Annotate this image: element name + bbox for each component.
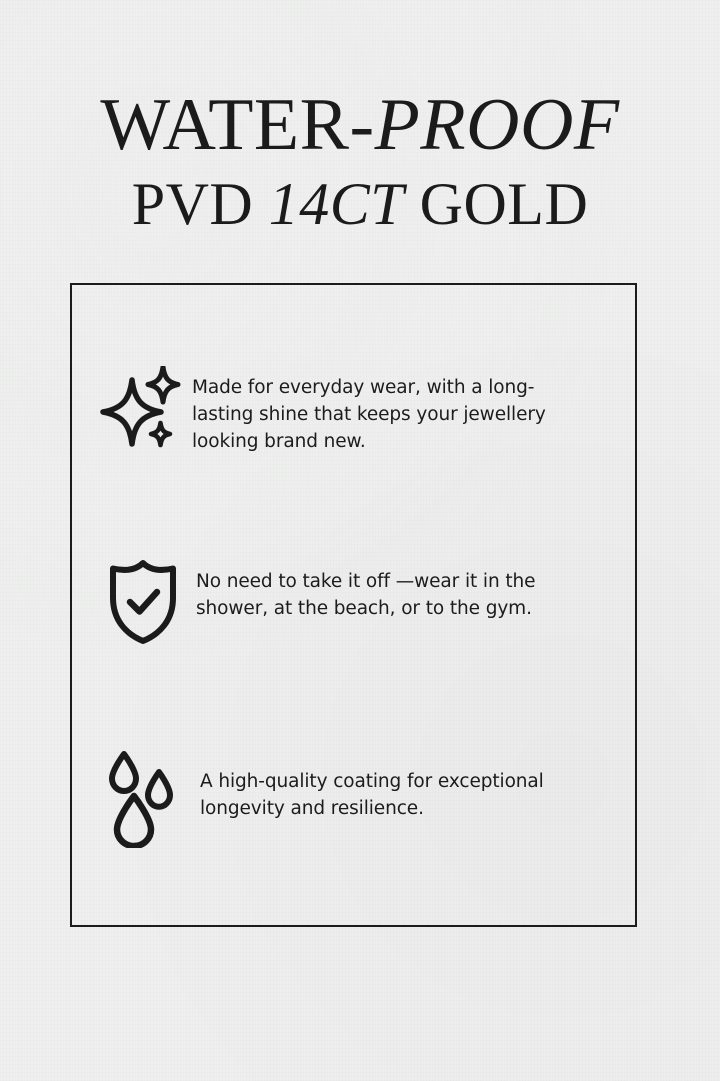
- headline-14ct: 14CT: [269, 171, 404, 237]
- headline-gold: GOLD: [404, 171, 588, 237]
- feature-row-shine: Made for everyday wear, with a long-last…: [70, 362, 637, 455]
- water-droplets-icon: [100, 748, 200, 848]
- feature-text-coating: A high-quality coating for exceptional l…: [200, 748, 590, 822]
- feature-text-waterproof: No need to take it off —wear it in the s…: [196, 556, 586, 622]
- headline-line-1: WATER-PROOF: [0, 88, 720, 162]
- feature-list: Made for everyday wear, with a long-last…: [70, 283, 637, 927]
- feature-row-coating: A high-quality coating for exceptional l…: [70, 748, 637, 848]
- page-title: WATER-PROOF PVD 14CT GOLD: [0, 88, 720, 234]
- feature-text-shine: Made for everyday wear, with a long-last…: [192, 362, 582, 455]
- shield-check-icon: [100, 556, 196, 646]
- sparkle-icon: [100, 362, 192, 452]
- headline-water: WATER-: [100, 84, 374, 166]
- headline-proof: PROOF: [375, 84, 620, 166]
- headline-pvd: PVD: [132, 171, 269, 237]
- headline-line-2: PVD 14CT GOLD: [0, 174, 720, 234]
- feature-row-waterproof: No need to take it off —wear it in the s…: [70, 556, 637, 646]
